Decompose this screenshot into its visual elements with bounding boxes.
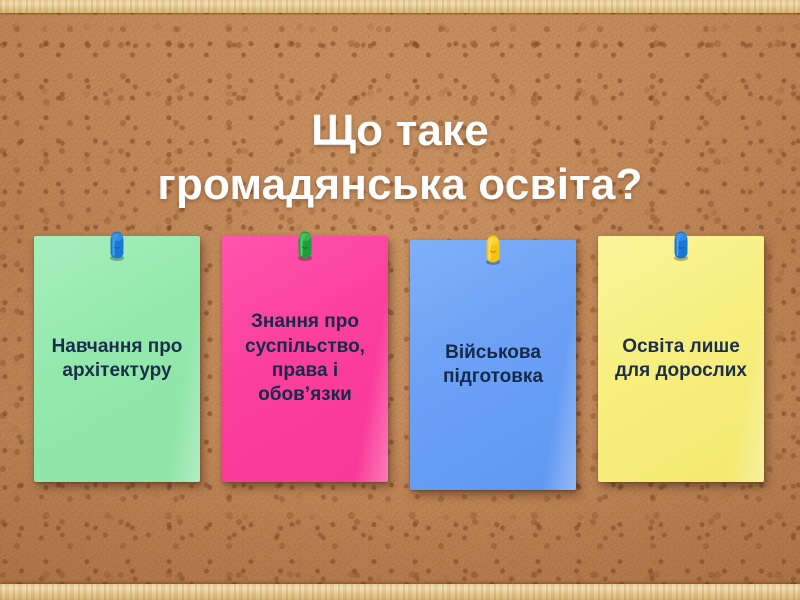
sticky-notes-row: Навчання про архітектуру Знання про сусп…	[0, 236, 800, 496]
sticky-note-3[interactable]: Військова підготовка	[410, 240, 576, 490]
sticky-note-text: Військова підготовка	[418, 341, 568, 390]
pushpin-icon-blue	[104, 228, 130, 262]
title-line-2: громадянська освіта?	[0, 158, 800, 212]
sticky-note-text: Освіта лише для дорослих	[606, 335, 756, 384]
title-line-1: Що таке	[311, 106, 489, 155]
sticky-note-1[interactable]: Навчання про архітектуру	[34, 236, 200, 482]
wood-frame-bottom	[0, 584, 800, 600]
pushpin-icon-blue-2	[668, 228, 694, 262]
pushpin-icon-yellow	[480, 232, 506, 266]
sticky-note-4[interactable]: Освіта лише для дорослих	[598, 236, 764, 482]
slide-canvas: Що таке громадянська освіта? Навчання пр…	[0, 0, 800, 600]
pushpin-icon-green	[292, 228, 318, 262]
sticky-note-2[interactable]: Знання про суспільство, права і обов’язк…	[222, 236, 388, 482]
page-title: Що таке громадянська освіта?	[0, 104, 800, 211]
sticky-note-text: Знання про суспільство, права і обов’язк…	[230, 310, 380, 407]
wood-frame-top	[0, 0, 800, 13]
sticky-note-text: Навчання про архітектуру	[42, 335, 192, 384]
